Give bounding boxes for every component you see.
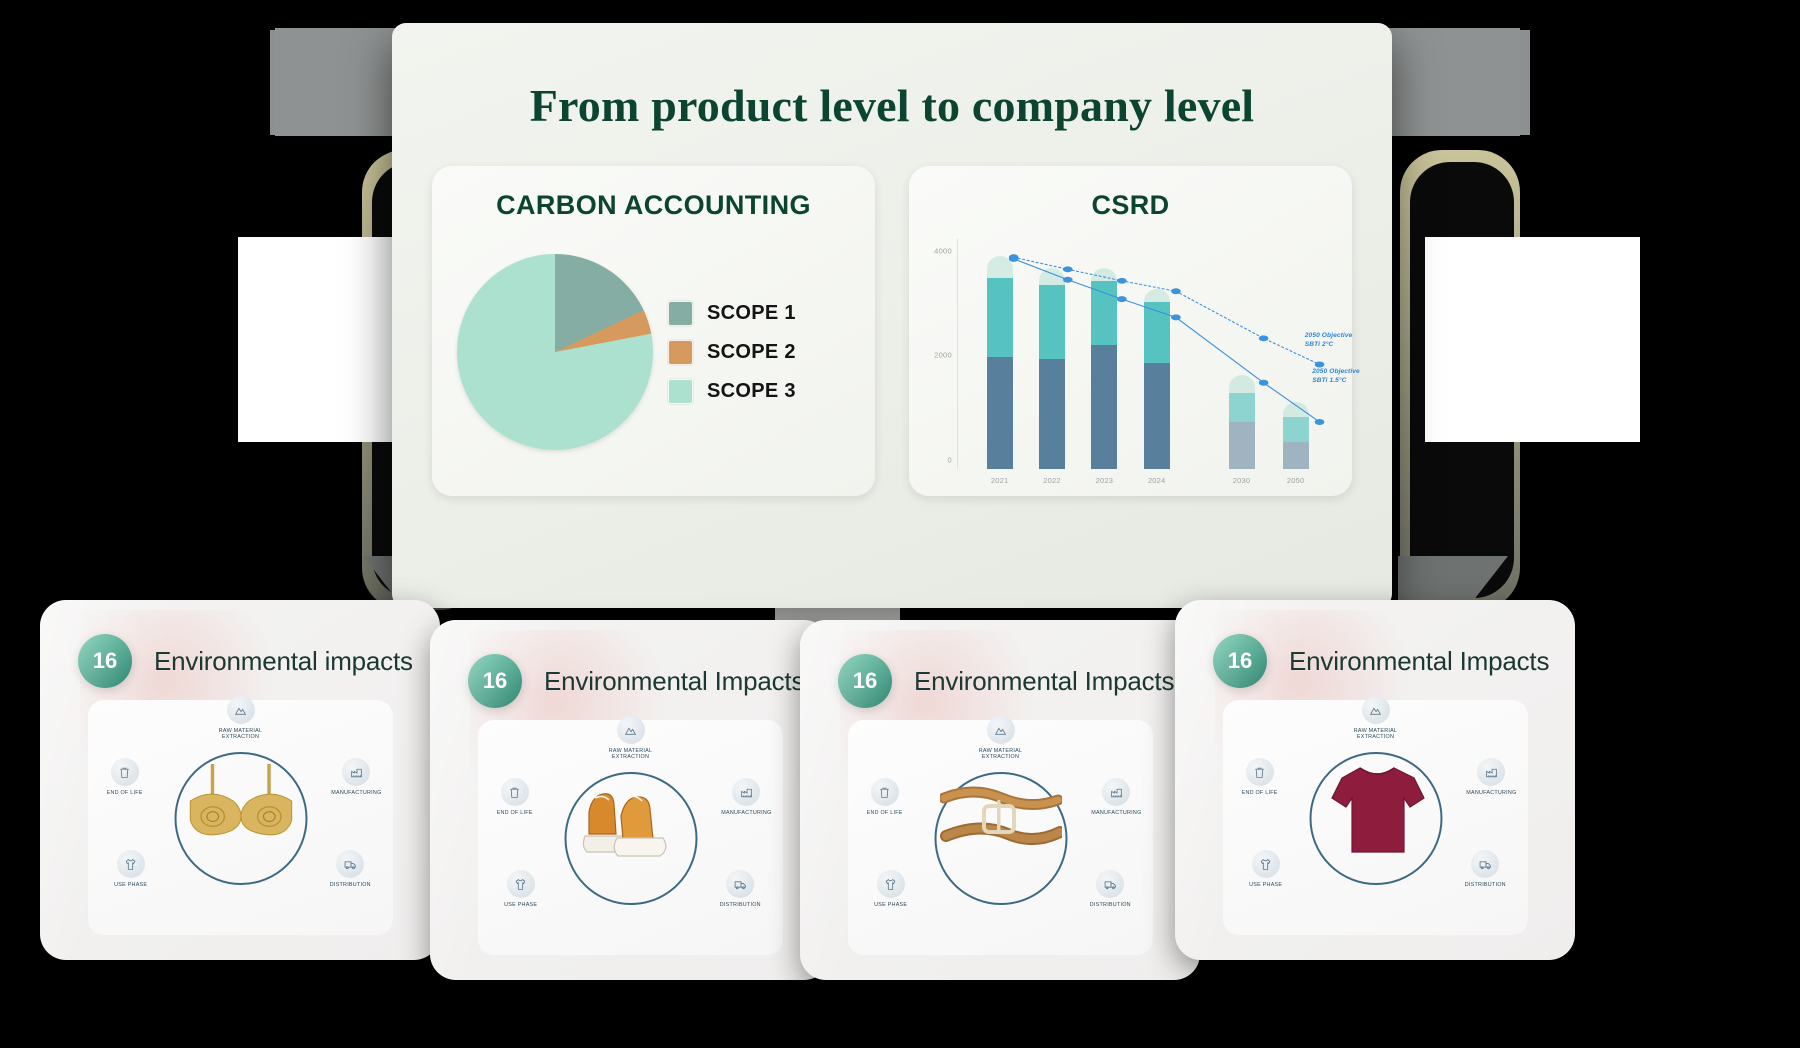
trash-icon xyxy=(111,758,139,786)
slide-number-badge: 16 xyxy=(78,634,132,688)
annotation-line-2: SBTi 1.5°C xyxy=(1312,377,1346,384)
legend-swatch-icon xyxy=(668,379,693,404)
x-tick-label: 2022 xyxy=(1039,476,1065,485)
product-image xyxy=(575,782,687,873)
lifecycle-node-label: END OF LIFE xyxy=(94,790,156,796)
tshirt-icon xyxy=(507,870,535,898)
lifecycle-node-label: MANUFACTURING xyxy=(1460,790,1522,796)
panel-csrd[interactable]: CSRD 020004000 202120222023202420302050 … xyxy=(909,166,1352,496)
legend-item-3[interactable]: SCOPE 3 xyxy=(668,379,857,404)
panel-title-csrd: CSRD xyxy=(927,190,1334,221)
factory-icon xyxy=(342,758,370,786)
tshirt-icon xyxy=(1252,850,1280,878)
lifecycle-node[interactable]: DISTRIBUTION xyxy=(319,850,381,888)
lifecycle-node[interactable]: DISTRIBUTION xyxy=(1079,870,1141,908)
trend-lines xyxy=(957,239,1330,469)
lifecycle-diagram: RAW MATERIAL EXTRACTION MANUFACTURING DI… xyxy=(478,720,783,955)
truck-icon xyxy=(1471,850,1499,878)
legend-label: SCOPE 1 xyxy=(707,302,796,325)
thumbnail-header: 16 Environmental Impacts xyxy=(838,654,1174,708)
legend-item-1[interactable]: SCOPE 1 xyxy=(668,301,857,326)
trash-icon xyxy=(871,778,899,806)
lifecycle-node[interactable]: USE PHASE xyxy=(100,850,162,888)
lifecycle-node-label: RAW MATERIAL EXTRACTION xyxy=(210,728,272,740)
mountain-icon xyxy=(617,716,645,744)
thumbnail-card[interactable]: 16 Environmental Impacts RAW MATERIAL EX… xyxy=(1175,600,1575,960)
thumbnail-card[interactable]: 16 Environmental Impacts RAW MATERIAL EX… xyxy=(430,620,830,980)
factory-icon xyxy=(732,778,760,806)
product-tshirt-illustration xyxy=(1324,762,1428,866)
thumbnail-card[interactable]: 16 Environmental impacts RAW MATERIAL EX… xyxy=(40,600,440,960)
pie-legend: SCOPE 1SCOPE 2SCOPE 3 xyxy=(660,287,857,418)
trash-icon xyxy=(1246,758,1274,786)
lifecycle-node-label: DISTRIBUTION xyxy=(319,882,381,888)
lifecycle-node-label: END OF LIFE xyxy=(1229,790,1291,796)
factory-icon xyxy=(1102,778,1130,806)
truck-icon xyxy=(1096,870,1124,898)
legend-label: SCOPE 3 xyxy=(707,380,796,403)
lifecycle-node[interactable]: USE PHASE xyxy=(860,870,922,908)
legend-swatch-icon xyxy=(668,301,693,326)
thumbnail-title: Environmental impacts xyxy=(154,646,413,677)
lifecycle-node[interactable]: MANUFACTURING xyxy=(715,778,777,816)
annotation-line-2: SBTi 2°C xyxy=(1305,341,1334,348)
lifecycle-node[interactable]: RAW MATERIAL EXTRACTION xyxy=(600,716,662,760)
annotation-line-1: 2050 Objective xyxy=(1312,368,1360,375)
lifecycle-node-label: USE PHASE xyxy=(490,902,552,908)
lifecycle-node-label: RAW MATERIAL EXTRACTION xyxy=(970,748,1032,760)
lifecycle-node-label: RAW MATERIAL EXTRACTION xyxy=(1345,728,1407,740)
slide-number-badge: 16 xyxy=(838,654,892,708)
pie-chart xyxy=(457,254,653,450)
lifecycle-node-label: USE PHASE xyxy=(1235,882,1297,888)
lifecycle-node[interactable]: RAW MATERIAL EXTRACTION xyxy=(1345,696,1407,740)
legend-item-2[interactable]: SCOPE 2 xyxy=(668,340,857,365)
legend-swatch-icon xyxy=(668,340,693,365)
panel-carbon-accounting[interactable]: CARBON ACCOUNTING SCOPE 1SCOPE 2SCOPE 3 xyxy=(432,166,875,496)
y-tick-label: 0 xyxy=(948,456,957,465)
thumbnail-header: 16 Environmental Impacts xyxy=(468,654,804,708)
product-image xyxy=(1324,762,1428,871)
lifecycle-node-label: MANUFACTURING xyxy=(325,790,387,796)
lifecycle-node[interactable]: DISTRIBUTION xyxy=(709,870,771,908)
thumbnail-card[interactable]: 16 Environmental Impacts RAW MATERIAL EX… xyxy=(800,620,1200,980)
csrd-chart: 020004000 202120222023202420302050 2050 … xyxy=(927,233,1334,491)
panel-title-carbon: CARBON ACCOUNTING xyxy=(450,190,857,221)
x-tick-label: 2023 xyxy=(1091,476,1117,485)
product-belt-illustration xyxy=(940,782,1062,856)
backdrop-card-right xyxy=(1425,237,1640,442)
x-tick-label: 2024 xyxy=(1144,476,1170,485)
thumbnail-title: Environmental Impacts xyxy=(914,666,1174,697)
lifecycle-node-label: END OF LIFE xyxy=(854,810,916,816)
lifecycle-node-label: DISTRIBUTION xyxy=(1454,882,1516,888)
thumbnail-header: 16 Environmental impacts xyxy=(78,634,413,688)
lifecycle-node[interactable]: DISTRIBUTION xyxy=(1454,850,1516,888)
lifecycle-node[interactable]: RAW MATERIAL EXTRACTION xyxy=(970,716,1032,760)
lifecycle-node-label: END OF LIFE xyxy=(484,810,546,816)
thumbnail-header: 16 Environmental Impacts xyxy=(1213,634,1549,688)
pie-wrap xyxy=(450,254,660,450)
trash-icon xyxy=(501,778,529,806)
pie-chart-area: SCOPE 1SCOPE 2SCOPE 3 xyxy=(450,227,857,477)
x-tick-label: 2021 xyxy=(987,476,1013,485)
panel-row: CARBON ACCOUNTING SCOPE 1SCOPE 2SCOPE 3 … xyxy=(422,166,1362,496)
legend-label: SCOPE 2 xyxy=(707,341,796,364)
lifecycle-node[interactable]: END OF LIFE xyxy=(1229,758,1291,796)
factory-icon xyxy=(1477,758,1505,786)
lifecycle-diagram: RAW MATERIAL EXTRACTION MANUFACTURING DI… xyxy=(1223,700,1528,935)
lifecycle-node-label: MANUFACTURING xyxy=(715,810,777,816)
lifecycle-node[interactable]: MANUFACTURING xyxy=(1085,778,1147,816)
main-slide[interactable]: From product level to company level CARB… xyxy=(392,23,1392,608)
lifecycle-node[interactable]: MANUFACTURING xyxy=(1460,758,1522,796)
lifecycle-node-label: MANUFACTURING xyxy=(1085,810,1147,816)
lifecycle-node[interactable]: END OF LIFE xyxy=(484,778,546,816)
truck-icon xyxy=(336,850,364,878)
lifecycle-node[interactable]: USE PHASE xyxy=(490,870,552,908)
mountain-icon xyxy=(227,696,255,724)
tshirt-icon xyxy=(117,850,145,878)
truck-icon xyxy=(726,870,754,898)
y-tick-label: 2000 xyxy=(934,351,957,360)
thumbnail-title: Environmental Impacts xyxy=(544,666,804,697)
csrd-plot-area: 020004000 202120222023202420302050 2050 … xyxy=(957,239,1330,469)
slide-number-badge: 16 xyxy=(1213,634,1267,688)
page-title: From product level to company level xyxy=(422,79,1362,132)
lifecycle-node[interactable]: RAW MATERIAL EXTRACTION xyxy=(210,696,272,740)
annotation-line-1: 2050 Objective xyxy=(1305,332,1353,339)
lifecycle-node-label: DISTRIBUTION xyxy=(709,902,771,908)
tshirt-icon xyxy=(877,870,905,898)
y-tick-label: 4000 xyxy=(934,246,957,255)
thumbnail-row: 16 Environmental impacts RAW MATERIAL EX… xyxy=(0,620,1800,980)
lifecycle-node[interactable]: END OF LIFE xyxy=(854,778,916,816)
lifecycle-node-label: USE PHASE xyxy=(100,882,162,888)
product-bra-illustration xyxy=(182,762,300,840)
lifecycle-node[interactable]: END OF LIFE xyxy=(94,758,156,796)
trend-annotation: 2050 Objective SBTi 2°C xyxy=(1305,332,1353,350)
x-tick-label: 2050 xyxy=(1283,476,1309,485)
lifecycle-node[interactable]: MANUFACTURING xyxy=(325,758,387,796)
slide-number-badge: 16 xyxy=(468,654,522,708)
product-sneakers-illustration xyxy=(575,782,687,868)
thumbnail-title: Environmental Impacts xyxy=(1289,646,1549,677)
trend-annotation: 2050 Objective SBTi 1.5°C xyxy=(1312,368,1360,386)
lifecycle-node-label: USE PHASE xyxy=(860,902,922,908)
product-image xyxy=(940,782,1062,861)
mountain-icon xyxy=(987,716,1015,744)
mountain-icon xyxy=(1362,696,1390,724)
product-image xyxy=(182,762,300,845)
lifecycle-node[interactable]: USE PHASE xyxy=(1235,850,1297,888)
lifecycle-diagram: RAW MATERIAL EXTRACTION MANUFACTURING DI… xyxy=(88,700,393,935)
lifecycle-diagram: RAW MATERIAL EXTRACTION MANUFACTURING DI… xyxy=(848,720,1153,955)
screen-root: From product level to company level CARB… xyxy=(0,0,1800,1048)
lifecycle-node-label: DISTRIBUTION xyxy=(1079,902,1141,908)
x-tick-label: 2030 xyxy=(1229,476,1255,485)
lifecycle-node-label: RAW MATERIAL EXTRACTION xyxy=(600,748,662,760)
